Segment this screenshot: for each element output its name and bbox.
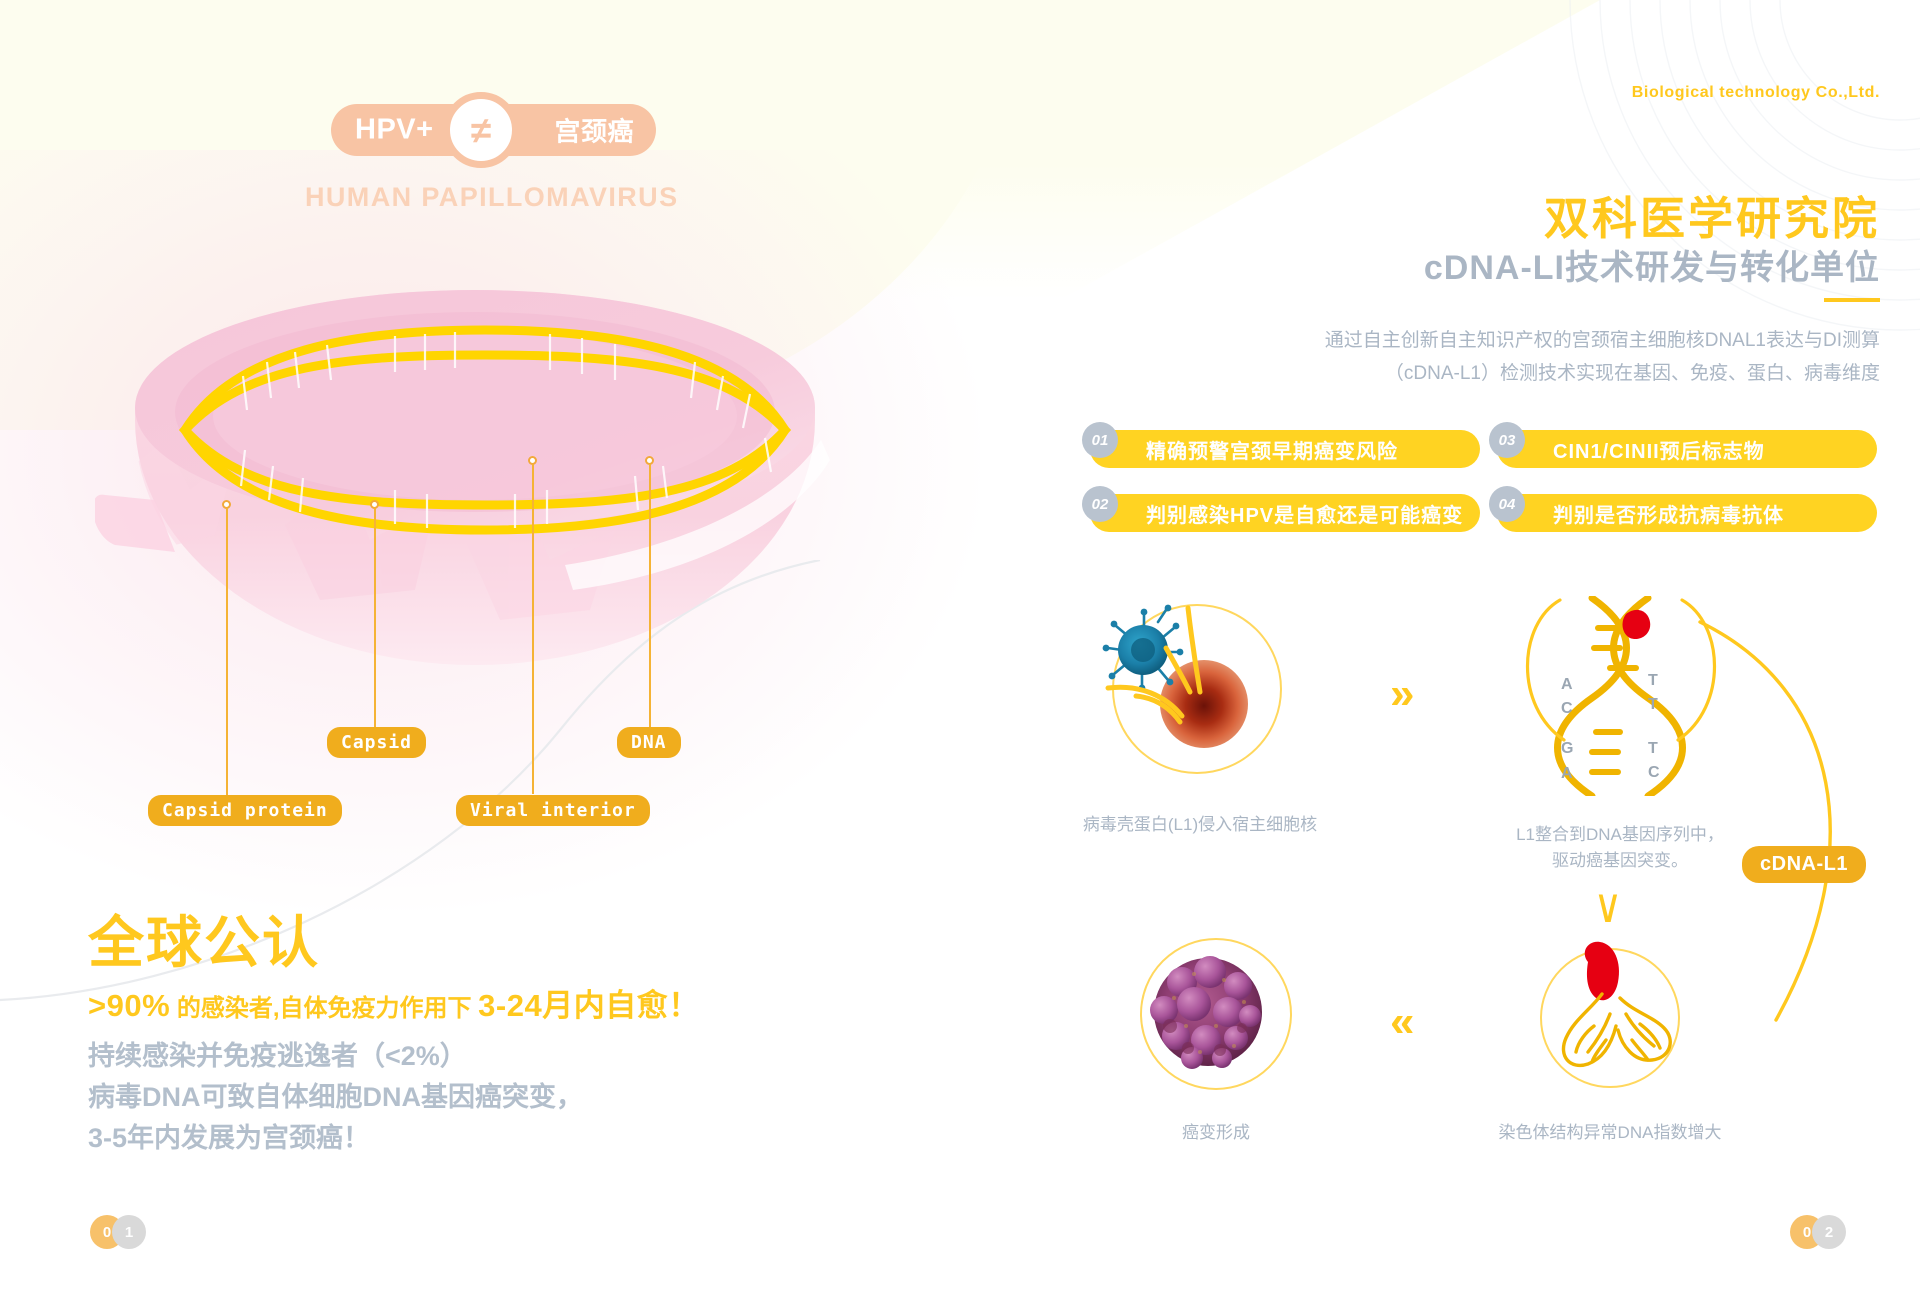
- feature-label-01: 精确预警宫颈早期癌变风险: [1146, 435, 1398, 464]
- tag-capsid-protein[interactable]: Capsid protein: [148, 795, 342, 826]
- chromosome-illustration: [1530, 928, 1710, 1108]
- tumor-illustration: [1130, 930, 1310, 1110]
- feature-label-02: 判别感染HPV是自愈还是可能癌变: [1146, 499, 1463, 528]
- hpv-badge-right-text: 宫颈癌: [554, 112, 634, 149]
- persistent-infection-line-3: 3-5年内发展为宫颈癌！: [88, 1118, 583, 1159]
- global-recognition-title: 全球公认: [88, 898, 320, 979]
- pin-stem: [374, 508, 376, 730]
- feature-pill-02[interactable]: 02 判别感染HPV是自愈还是可能癌变: [1090, 494, 1480, 532]
- stat-middle-text: 的感染者,自体免疫力作用下: [170, 995, 478, 1022]
- company-name: Biological technology Co.,Ltd.: [1632, 84, 1880, 102]
- step4-caption: 癌变形成: [1096, 1120, 1336, 1146]
- virus-invasion-illustration: [1100, 592, 1300, 792]
- persistent-infection-line-2: 病毒DNA可致自体细胞DNA基因癌突变，: [88, 1077, 583, 1118]
- stat-highlight: 3-24月内自愈！: [478, 988, 700, 1023]
- corner-arc-decoration: [1340, 0, 1920, 360]
- tag-dna[interactable]: DNA: [617, 727, 681, 758]
- statistic-line: >90% 的感染者,自体免疫力作用下 3-24月内自愈！: [88, 980, 700, 1025]
- hpv-badge-left-text: HPV+: [355, 114, 434, 147]
- flow-arrow-right: »: [1390, 672, 1414, 716]
- feature-number-01: 01: [1082, 422, 1118, 458]
- page-number-right-second: 2: [1812, 1215, 1846, 1249]
- not-equal-icon: ≠: [443, 92, 519, 168]
- feature-pill-03[interactable]: 03 CIN1/CINII预后标志物: [1497, 430, 1877, 468]
- title-divider: [1824, 298, 1880, 302]
- step3-caption: 染色体结构异常DNA指数增大: [1470, 1120, 1750, 1146]
- institute-title: 双科医学研究院: [1544, 182, 1880, 247]
- feature-label-03: CIN1/CINII预后标志物: [1553, 435, 1765, 464]
- persistent-infection-block: 持续感染并免疫逃逸者（<2%） 病毒DNA可致自体细胞DNA基因癌突变， 3-5…: [88, 1036, 583, 1159]
- page-number-left: 0 1: [90, 1215, 154, 1249]
- feature-label-04: 判别是否形成抗病毒抗体: [1553, 499, 1784, 528]
- feature-number-02: 02: [1082, 486, 1118, 522]
- cdna-l1-badge[interactable]: cDNA-L1: [1742, 846, 1866, 883]
- poster-root: HPV+ 宫颈癌 ≠ HUMAN PAPILLOMAVIRUS: [0, 0, 1920, 1303]
- page-number-right: 0 2: [1790, 1215, 1854, 1249]
- pin-stem: [226, 508, 228, 796]
- tag-capsid[interactable]: Capsid: [327, 727, 426, 758]
- institute-paragraph: 通过自主创新自主知识产权的宫颈宿主细胞核DNAL1表达与DI测算（cDNA-L1…: [1300, 324, 1880, 391]
- feature-number-03: 03: [1489, 422, 1525, 458]
- petri-dish-illustration: [95, 290, 875, 690]
- stat-percent: >90%: [88, 988, 170, 1023]
- institute-subtitle: cDNA-LI技术研发与转化单位: [1424, 240, 1880, 289]
- flow-arrow-left: «: [1390, 1000, 1414, 1044]
- pin-stem: [649, 464, 651, 732]
- tag-viral-interior[interactable]: Viral interior: [456, 795, 650, 826]
- step1-caption: 病毒壳蛋白(L1)侵入宿主细胞核: [1080, 812, 1320, 838]
- feature-number-04: 04: [1489, 486, 1525, 522]
- feature-pill-04[interactable]: 04 判别是否形成抗病毒抗体: [1497, 494, 1877, 532]
- hpv-subtitle: HUMAN PAPILLOMAVIRUS: [305, 182, 725, 213]
- feature-pill-01[interactable]: 01 精确预警宫颈早期癌变风险: [1090, 430, 1480, 468]
- persistent-infection-line-1: 持续感染并免疫逃逸者（<2%）: [88, 1036, 583, 1077]
- pin-stem: [532, 464, 534, 794]
- page-number-left-second: 1: [112, 1215, 146, 1249]
